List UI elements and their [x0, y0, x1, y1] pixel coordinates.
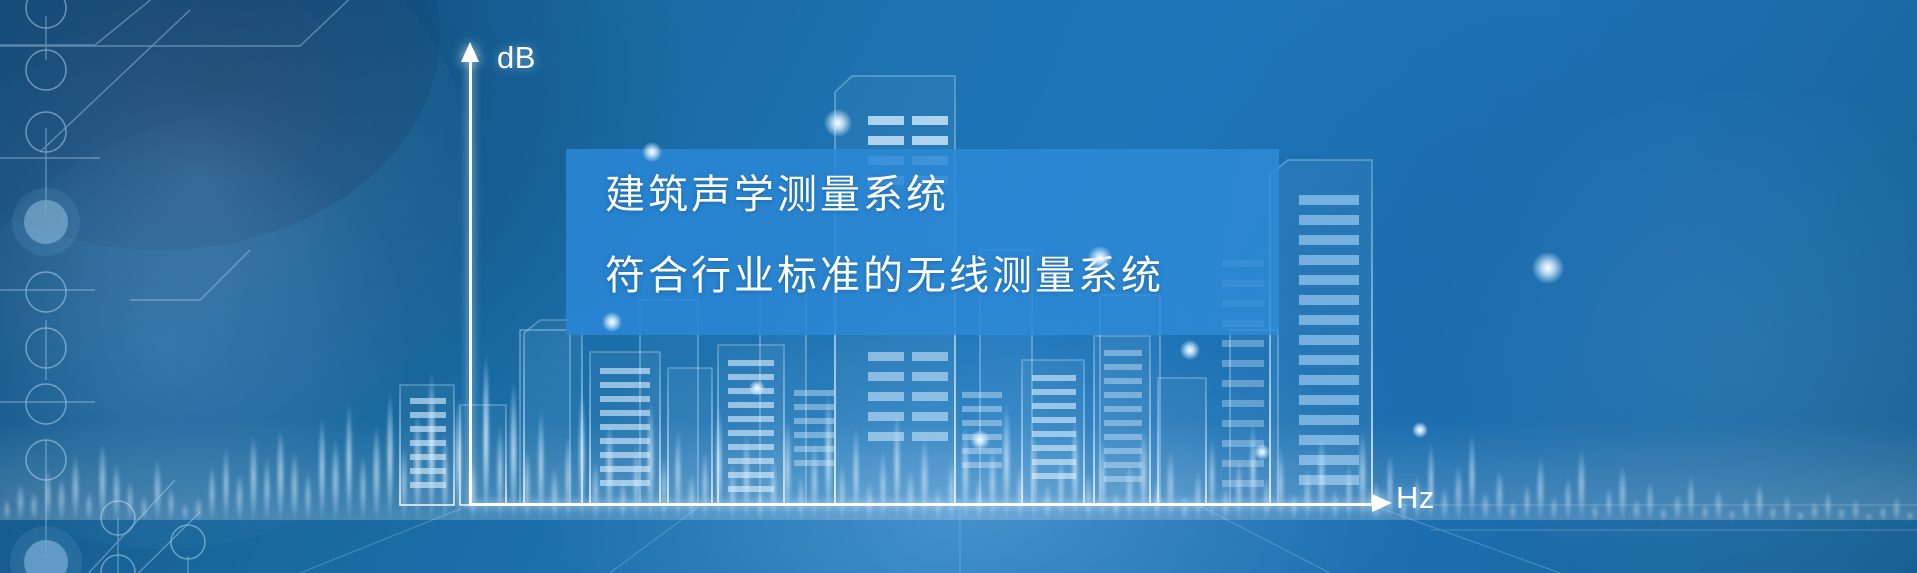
waveform-bar — [879, 451, 887, 521]
waveform-bar — [235, 473, 243, 521]
waveform-bar — [1016, 465, 1024, 521]
y-axis-arrow-icon — [461, 42, 479, 62]
waveform-bar — [619, 477, 627, 521]
waveform-bar — [550, 467, 558, 521]
waveform-bar — [1098, 441, 1106, 521]
waveform-bar — [701, 449, 709, 521]
waveform-bar — [153, 459, 161, 521]
waveform-bar — [1769, 505, 1777, 521]
sparkle-icon — [749, 380, 765, 396]
waveform-bar — [30, 491, 38, 521]
waveform-bar — [1796, 511, 1804, 521]
x-axis-arrow-icon — [1372, 494, 1392, 512]
waveform-bar — [523, 449, 531, 521]
acoustic-banner: dB Hz 建筑声学测量系统 符合行业标准的无线测量系统 — [0, 0, 1917, 573]
waveform-bar — [1194, 471, 1202, 521]
waveform-bar — [276, 429, 284, 521]
waveform-bar — [1646, 481, 1654, 521]
sparkle-icon — [824, 109, 852, 137]
waveform-bar — [1673, 493, 1681, 521]
waveform-bar — [181, 503, 189, 521]
sparkle-icon — [1088, 246, 1112, 270]
waveform-bar — [1454, 465, 1462, 521]
waveform-bar — [1728, 509, 1736, 521]
waveform-bar — [578, 389, 586, 521]
waveform-bar — [1317, 435, 1325, 521]
waveform-bar — [85, 491, 93, 521]
x-axis-label: Hz — [1396, 480, 1435, 516]
waveform-bar — [1139, 429, 1147, 521]
waveform-bar — [44, 469, 52, 521]
audio-waveform — [0, 323, 1917, 573]
waveform-bar — [126, 481, 134, 521]
waveform-bar — [1153, 479, 1161, 521]
waveform-bar — [427, 371, 435, 521]
waveform-bar — [1618, 465, 1626, 521]
waveform-bar — [1249, 421, 1257, 521]
y-axis-label: dB — [497, 40, 536, 76]
waveform-bar — [1440, 487, 1448, 521]
waveform-bar — [1276, 447, 1284, 521]
waveform-bar — [988, 445, 996, 521]
waveform-bar — [3, 499, 11, 521]
waveform-bar — [1057, 455, 1065, 521]
sparkle-icon — [1180, 340, 1200, 360]
waveform-bar — [1865, 513, 1873, 521]
waveform-bar — [1125, 463, 1133, 521]
waveform-bar — [632, 443, 640, 521]
waveform-bar — [290, 451, 298, 521]
waveform-bar — [1783, 495, 1791, 521]
waveform-bar — [1509, 501, 1517, 521]
waveform-bar — [1591, 503, 1599, 521]
waveform-bar — [1523, 483, 1531, 521]
waveform-bar — [1303, 467, 1311, 521]
waveform-bar — [1468, 433, 1476, 521]
waveform-bar — [865, 481, 873, 521]
waveform-bar — [1180, 495, 1188, 521]
waveform-bar — [1290, 493, 1298, 521]
waveform-bar — [140, 495, 148, 521]
waveform-bar — [591, 461, 599, 521]
waveform-bar — [1481, 491, 1489, 521]
waveform-bar — [386, 391, 394, 521]
waveform-bar — [1166, 451, 1174, 521]
waveform-bar — [1824, 491, 1832, 521]
waveform-bar — [687, 473, 695, 521]
waveform-bar — [1030, 433, 1038, 521]
waveform-bar — [1262, 477, 1270, 521]
waveform-bar — [1879, 505, 1887, 521]
waveform-bar — [1687, 475, 1695, 521]
waveform-bar — [454, 397, 462, 521]
sparkle-icon — [1532, 252, 1564, 284]
waveform-bar — [810, 441, 818, 521]
waveform-bar — [1632, 499, 1640, 521]
sparkle-icon — [602, 312, 622, 332]
sparkle-icon — [1254, 444, 1270, 460]
waveform-bar — [824, 393, 832, 521]
waveform-bar — [345, 403, 353, 521]
waveform-bar — [975, 477, 983, 521]
waveform-bar — [1742, 497, 1750, 521]
waveform-bar — [1714, 489, 1722, 521]
waveform-bar — [112, 463, 120, 521]
waveform-bar — [1851, 499, 1859, 521]
waveform-bar — [413, 411, 421, 521]
waveform-bar — [400, 447, 408, 521]
waveform-bar — [564, 435, 572, 521]
waveform-bar — [359, 455, 367, 521]
waveform-bar — [1810, 501, 1818, 521]
waveform-bar — [16, 483, 24, 521]
waveform-bar — [769, 457, 777, 521]
waveform-bar — [1837, 507, 1845, 521]
waveform-bar — [441, 433, 449, 521]
waveform-bar — [605, 421, 613, 521]
waveform-bar — [1495, 469, 1503, 521]
x-axis-line — [469, 503, 1374, 506]
waveform-bar — [167, 487, 175, 521]
waveform-bar — [660, 455, 668, 521]
waveform-bar — [1536, 457, 1544, 521]
sparkle-icon — [1412, 422, 1428, 438]
waveform-bar — [1755, 483, 1763, 521]
waveform-bar — [1084, 473, 1092, 521]
waveform-bar — [920, 437, 928, 521]
waveform-bar — [674, 429, 682, 521]
waveform-bar — [249, 435, 257, 521]
waveform-bar — [838, 463, 846, 521]
waveform-bar — [263, 457, 271, 521]
sparkle-icon — [642, 142, 662, 162]
waveform-bar — [1564, 477, 1572, 521]
waveform-bar — [318, 417, 326, 521]
waveform-bar — [57, 477, 65, 521]
waveform-bar — [1358, 431, 1366, 521]
waveform-bar — [304, 471, 312, 521]
waveform-bar — [71, 455, 79, 521]
waveform-bar — [1043, 483, 1051, 521]
waveform-bar — [1550, 495, 1558, 521]
waveform-bar — [1701, 503, 1709, 521]
page-title: 建筑声学测量系统 — [605, 175, 1365, 215]
waveform-bar — [1345, 463, 1353, 521]
waveform-bar — [98, 443, 106, 521]
waveform-bar — [797, 475, 805, 521]
waveform-bar — [1605, 487, 1613, 521]
waveform-bar — [1112, 491, 1120, 521]
waveform-bar — [728, 463, 736, 521]
waveform-bar — [1906, 511, 1914, 521]
waveform-bar — [482, 353, 490, 521]
y-axis-line — [469, 58, 472, 506]
waveform-bar — [947, 459, 955, 521]
waveform-bar — [1892, 497, 1900, 521]
waveform-bar — [331, 439, 339, 521]
waveform-bar — [906, 469, 914, 521]
waveform-bar — [222, 447, 230, 521]
waveform-bar — [1235, 459, 1243, 521]
headline-text-group: 建筑声学测量系统 符合行业标准的无线测量系统 — [605, 175, 1365, 296]
waveform-bar — [496, 425, 504, 521]
waveform-bar — [742, 433, 750, 521]
waveform-bar — [509, 381, 517, 521]
waveform-bar — [372, 425, 380, 521]
waveform-bar — [852, 427, 860, 521]
waveform-bar — [194, 497, 202, 521]
waveform-bar — [1659, 507, 1667, 521]
page-subtitle: 符合行业标准的无线测量系统 — [605, 256, 1365, 296]
waveform-bar — [1577, 449, 1585, 521]
waveform-bar — [961, 423, 969, 521]
sparkle-icon — [970, 430, 990, 450]
waveform-bar — [208, 465, 216, 521]
waveform-bar — [1208, 439, 1216, 521]
